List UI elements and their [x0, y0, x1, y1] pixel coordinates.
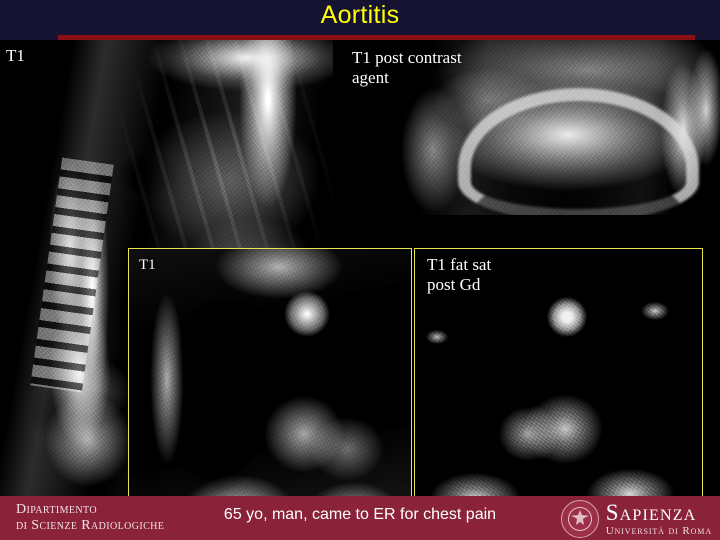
header-divider-rule [58, 35, 695, 40]
brand-name: Sapienza [606, 501, 712, 524]
slide-header: Aortitis [0, 0, 720, 40]
slide: Aortitis T1 T1 post contrast agent T1 T1… [0, 0, 720, 540]
mri-image-stage: T1 T1 post contrast agent T1 T1 fat sat … [0, 40, 720, 496]
page-title: Aortitis [0, 1, 720, 30]
panel-label-bottom-right: T1 fat sat post Gd [427, 255, 491, 295]
mri-panel-bottom-left[interactable]: T1 [128, 248, 412, 496]
panel-label-bottom-left: T1 [139, 255, 156, 275]
mri-panel-top-right[interactable]: T1 post contrast agent [338, 40, 720, 215]
university-brand: Sapienza Università di Roma [561, 500, 712, 538]
slide-footer: Dipartimento di Scienze Radiologiche 65 … [0, 496, 720, 540]
panel-label-top-right: T1 post contrast agent [352, 48, 462, 88]
brand-subtitle: Università di Roma [606, 526, 712, 537]
mri-noise-overlay [129, 249, 411, 496]
brand-text: Sapienza Università di Roma [606, 501, 712, 537]
mri-panel-bottom-right[interactable]: T1 fat sat post Gd [414, 248, 703, 496]
sapienza-crest-icon [561, 500, 599, 538]
panel-label-top-left: T1 [6, 46, 25, 66]
